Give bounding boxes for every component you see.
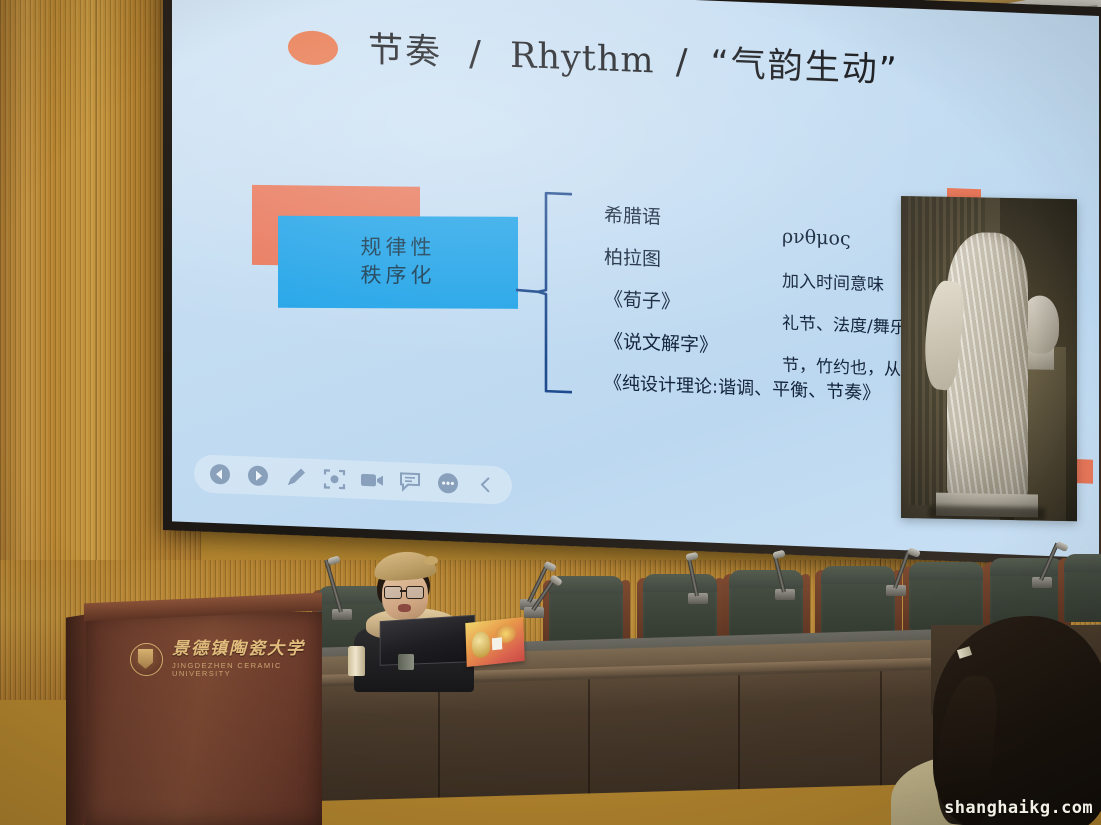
- wall-seam: [96, 0, 97, 560]
- colorful-book-prop: [465, 617, 525, 667]
- presenter-glasses: [384, 586, 426, 597]
- glasses-lens-left: [384, 586, 402, 599]
- previous-slide-icon[interactable]: [202, 456, 238, 493]
- pen-icon[interactable]: [278, 459, 314, 496]
- chevron-left-icon[interactable]: [468, 466, 504, 503]
- slide-title-cn: 节奏: [368, 30, 442, 73]
- projection-screen: 节奏 / Rhythm / “气韵生动” 规律性 秩序化: [163, 0, 1101, 567]
- next-slide-icon[interactable]: [240, 457, 276, 494]
- slide-title-latin: Rhythm: [510, 36, 654, 82]
- presenter-mouth: [398, 604, 411, 612]
- bullet-dot-icon: [288, 30, 338, 66]
- wood-wall-left: [0, 0, 180, 560]
- screen-bezel: 节奏 / Rhythm / “气韵生动” 规律性 秩序化: [163, 0, 1101, 567]
- table-panel-seam: [738, 669, 740, 789]
- slide-title-quote: “气韵生动”: [711, 44, 899, 91]
- presenter-laptop: [380, 615, 475, 666]
- brace-icon: [516, 189, 602, 396]
- focus-frame-icon[interactable]: [316, 460, 352, 497]
- university-crest-icon: [130, 643, 163, 676]
- lectern: 景德镇陶瓷大学 JINGDEZHEN CERAMIC UNIVERSITY: [84, 612, 322, 825]
- water-bottle: [348, 646, 365, 676]
- book-tag: [492, 637, 502, 650]
- key-concept-line-1: 规律性: [361, 234, 436, 262]
- video-camera-icon[interactable]: [354, 462, 390, 499]
- slide-title: 节奏 / Rhythm / “气韵生动”: [368, 21, 899, 93]
- university-name-block: 景德镇陶瓷大学 JINGDEZHEN CERAMIC UNIVERSITY: [172, 640, 322, 679]
- book-artwork-vase: [472, 631, 491, 659]
- slide-title-separator-2: /: [676, 42, 690, 83]
- desk-tumbler: [398, 654, 414, 670]
- presentation-toolbar[interactable]: [194, 454, 512, 505]
- key-concept-box: 规律性 秩序化: [278, 216, 518, 309]
- key-concept-line-2: 秩序化: [361, 262, 436, 290]
- lectern-branding: 景德镇陶瓷大学 JINGDEZHEN CERAMIC UNIVERSITY: [130, 640, 322, 679]
- watermark: shanghaikg.com: [944, 798, 1093, 818]
- table-panel-seam: [588, 673, 590, 793]
- university-name-cn: 景德镇陶瓷大学: [172, 640, 322, 659]
- table-panel-seam: [438, 678, 440, 798]
- lectern-side-panel: [66, 614, 86, 825]
- chair-headrest: [729, 570, 803, 588]
- glasses-lens-right: [406, 586, 424, 599]
- statue-photo: [901, 196, 1077, 521]
- more-options-icon[interactable]: [430, 465, 466, 502]
- microphone-head: [772, 550, 785, 560]
- comment-icon[interactable]: [392, 463, 428, 500]
- photo-vignette: [901, 196, 1077, 521]
- university-name-en: JINGDEZHEN CERAMIC UNIVERSITY: [172, 662, 322, 679]
- lecture-hall-photo: 节奏 / Rhythm / “气韵生动” 规律性 秩序化: [0, 0, 1101, 825]
- chair-headrest: [643, 574, 717, 592]
- chair-headrest: [1064, 554, 1101, 572]
- chair-headrest: [990, 558, 1064, 576]
- presenter-beret-tip: [424, 556, 438, 565]
- table-panel-seam: [880, 665, 882, 785]
- chair-headrest: [821, 566, 895, 584]
- presentation-slide: 节奏 / Rhythm / “气韵生动” 规律性 秩序化: [172, 0, 1099, 558]
- slide-title-separator-1: /: [469, 34, 483, 75]
- chair-headrest: [909, 562, 983, 580]
